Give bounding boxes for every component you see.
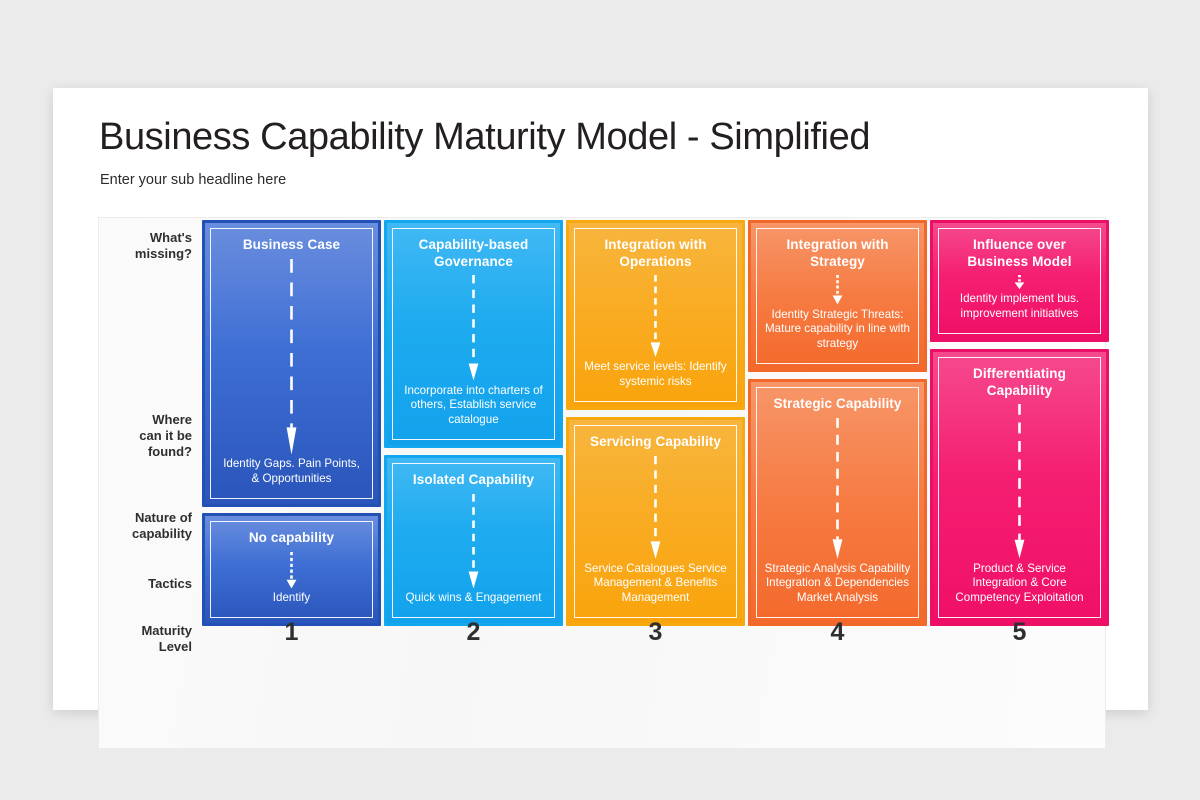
card-heading: Business Case: [243, 237, 340, 254]
page-title: Business Capability Maturity Model - Sim…: [99, 116, 870, 159]
screenshot-root: Business Capability Maturity Model - Sim…: [0, 0, 1200, 800]
card-body: Service Catalogues Service Management & …: [582, 562, 729, 608]
card-body: Identity implement bus. improvement init…: [946, 292, 1093, 324]
card-heading: Integration with Operations: [582, 237, 729, 270]
capability-card-bottom-5[interactable]: Differentiating Capability Product & Ser…: [930, 349, 1109, 626]
capability-card-bottom-1[interactable]: No capability Identify: [202, 513, 381, 626]
card-body: Incorporate into charters of others, Est…: [400, 384, 547, 430]
capability-card-top-4[interactable]: Integration with Strategy Identity Strat…: [748, 220, 927, 372]
card-body: Quick wins & Engagement: [406, 591, 542, 608]
dashed-down-arrow-icon: [218, 254, 365, 458]
maturity-level-value-3: 3: [566, 618, 745, 647]
dashed-down-arrow-icon: [764, 413, 911, 562]
dashed-down-arrow-icon: [946, 270, 1093, 292]
card-heading: Servicing Capability: [590, 434, 721, 451]
row-label-where-found: Where can it be found?: [100, 412, 192, 460]
card-body: Identify: [273, 591, 310, 608]
card-heading: Capability-based Governance: [400, 237, 547, 270]
maturity-column-3: Integration with Operations Meet service…: [566, 218, 745, 748]
capability-card-top-5[interactable]: Influence over Business Model Identity i…: [930, 220, 1109, 342]
row-label-maturity-level: Maturity Level: [100, 623, 192, 655]
row-label-nature-of-capability: Nature of capability: [100, 510, 192, 542]
page-subtitle: Enter your sub headline here: [100, 172, 286, 188]
dashed-down-arrow-icon: [218, 547, 365, 592]
card-body: Product & Service Integration & Core Com…: [946, 562, 1093, 608]
row-label-line: What's: [150, 230, 192, 245]
maturity-matrix: What's missing? Where can it be found? N…: [98, 217, 1106, 749]
capability-card-top-1[interactable]: Business Case Identity Gaps. Pain Points…: [202, 220, 381, 507]
dashed-down-arrow-icon: [582, 451, 729, 562]
dashed-down-arrow-icon: [946, 399, 1093, 561]
row-label-tactics: Tactics: [100, 576, 192, 592]
dashed-down-arrow-icon: [764, 270, 911, 307]
maturity-level-value-1: 1: [202, 618, 381, 647]
capability-card-top-3[interactable]: Integration with Operations Meet service…: [566, 220, 745, 410]
maturity-column-1: Business Case Identity Gaps. Pain Points…: [202, 218, 381, 748]
row-label-line: capability: [132, 526, 192, 541]
row-label-line: Maturity: [141, 623, 192, 638]
card-heading: Strategic Capability: [773, 396, 901, 413]
row-label-line: can it be: [139, 428, 192, 443]
maturity-level-value-2: 2: [384, 618, 563, 647]
card-body: Identity Strategic Threats: Mature capab…: [764, 308, 911, 354]
capability-card-bottom-3[interactable]: Servicing Capability Service Catalogues …: [566, 417, 745, 626]
dashed-down-arrow-icon: [582, 270, 729, 360]
dashed-down-arrow-icon: [400, 270, 547, 383]
row-label-column: What's missing? Where can it be found? N…: [99, 218, 202, 748]
card-heading: Integration with Strategy: [764, 237, 911, 270]
maturity-level-value-5: 5: [930, 618, 1109, 647]
dashed-down-arrow-icon: [400, 489, 547, 592]
capability-card-bottom-2[interactable]: Isolated Capability Quick wins & Engagem…: [384, 455, 563, 626]
card-body: Identity Gaps. Pain Points, & Opportunit…: [218, 457, 365, 489]
row-label-line: Level: [159, 639, 192, 654]
row-label-line: missing?: [135, 246, 192, 261]
card-body: Strategic Analysis Capability Integratio…: [764, 562, 911, 608]
row-label-line: Where: [152, 412, 192, 427]
row-label-line: Nature of: [135, 510, 192, 525]
card-body: Meet service levels: Identify systemic r…: [582, 360, 729, 392]
row-label-whats-missing: What's missing?: [100, 230, 192, 262]
card-heading: No capability: [249, 530, 334, 547]
row-label-line: found?: [148, 444, 192, 459]
maturity-column-2: Capability-based Governance Incorporate …: [384, 218, 563, 748]
maturity-column-4: Integration with Strategy Identity Strat…: [748, 218, 927, 748]
card-heading: Differentiating Capability: [946, 366, 1093, 399]
capability-card-top-2[interactable]: Capability-based Governance Incorporate …: [384, 220, 563, 448]
card-heading: Isolated Capability: [413, 472, 534, 489]
maturity-column-5: Influence over Business Model Identity i…: [930, 218, 1109, 748]
maturity-level-value-4: 4: [748, 618, 927, 647]
card-heading: Influence over Business Model: [946, 237, 1093, 270]
slide-canvas: Business Capability Maturity Model - Sim…: [53, 88, 1148, 710]
capability-card-bottom-4[interactable]: Strategic Capability Strategic Analysis …: [748, 379, 927, 626]
